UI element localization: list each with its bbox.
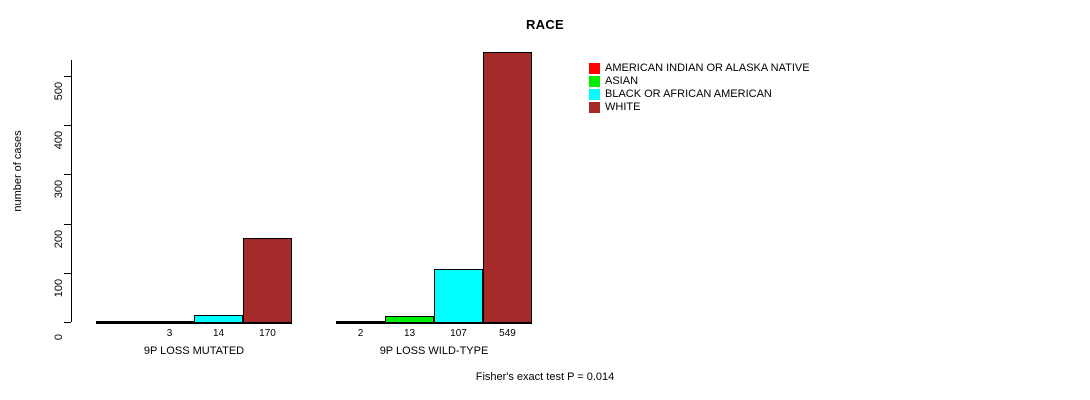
bar-value-label: 549: [483, 328, 532, 339]
y-tick-mark: [64, 273, 71, 274]
legend-label-black-or-african-american: BLACK OR AFRICAN AMERICAN: [605, 89, 772, 100]
bar-value-label: 107: [434, 328, 483, 339]
bar[interactable]: [243, 238, 292, 323]
bar-value-label: 14: [194, 328, 243, 339]
y-tick-mark: [64, 174, 71, 175]
legend: AMERICAN INDIAN OR ALASKA NATIVE ASIAN B…: [589, 62, 810, 114]
bar[interactable]: [483, 52, 532, 323]
legend-label-white: WHITE: [605, 102, 640, 113]
legend-label-american-indian-or-alaska-native: AMERICAN INDIAN OR ALASKA NATIVE: [605, 63, 810, 74]
bar[interactable]: [194, 315, 243, 323]
bar[interactable]: [96, 321, 145, 323]
y-tick-mark: [64, 76, 71, 77]
legend-swatch-white: [589, 102, 600, 113]
legend-swatch-black-or-african-american: [589, 89, 600, 100]
chart-caption: Fisher's exact test P = 0.014: [0, 371, 1090, 383]
bar-value-label: 3: [145, 328, 194, 339]
legend-item: AMERICAN INDIAN OR ALASKA NATIVE: [589, 62, 810, 75]
y-axis-line: [71, 60, 72, 322]
legend-swatch-asian: [589, 76, 600, 87]
bar[interactable]: [385, 316, 434, 323]
group-label: 9P LOSS MUTATED: [56, 345, 332, 357]
chart-title: RACE: [0, 17, 1090, 32]
bar[interactable]: [336, 321, 385, 323]
bar-value-label: 170: [243, 328, 292, 339]
legend-label-asian: ASIAN: [605, 76, 638, 87]
y-tick-label: 100: [53, 273, 65, 303]
legend-swatch-american-indian-or-alaska-native: [589, 63, 600, 74]
legend-item: ASIAN: [589, 75, 810, 88]
bar-value-label: 13: [385, 328, 434, 339]
y-tick-label: 500: [53, 76, 65, 106]
bar[interactable]: [434, 269, 483, 323]
y-tick-label: 300: [53, 174, 65, 204]
y-tick-mark: [64, 322, 71, 323]
legend-item: WHITE: [589, 101, 810, 114]
y-tick-mark: [64, 224, 71, 225]
group-label: 9P LOSS WILD-TYPE: [296, 345, 572, 357]
y-tick-label: 400: [53, 125, 65, 155]
y-axis-label: number of cases: [12, 111, 24, 231]
bar-value-label: 2: [336, 328, 385, 339]
bar[interactable]: [145, 321, 194, 323]
chart-canvas: RACE number of cases 0100200300400500 31…: [0, 0, 1090, 400]
y-tick-mark: [64, 125, 71, 126]
y-tick-label: 200: [53, 224, 65, 254]
legend-item: BLACK OR AFRICAN AMERICAN: [589, 88, 810, 101]
